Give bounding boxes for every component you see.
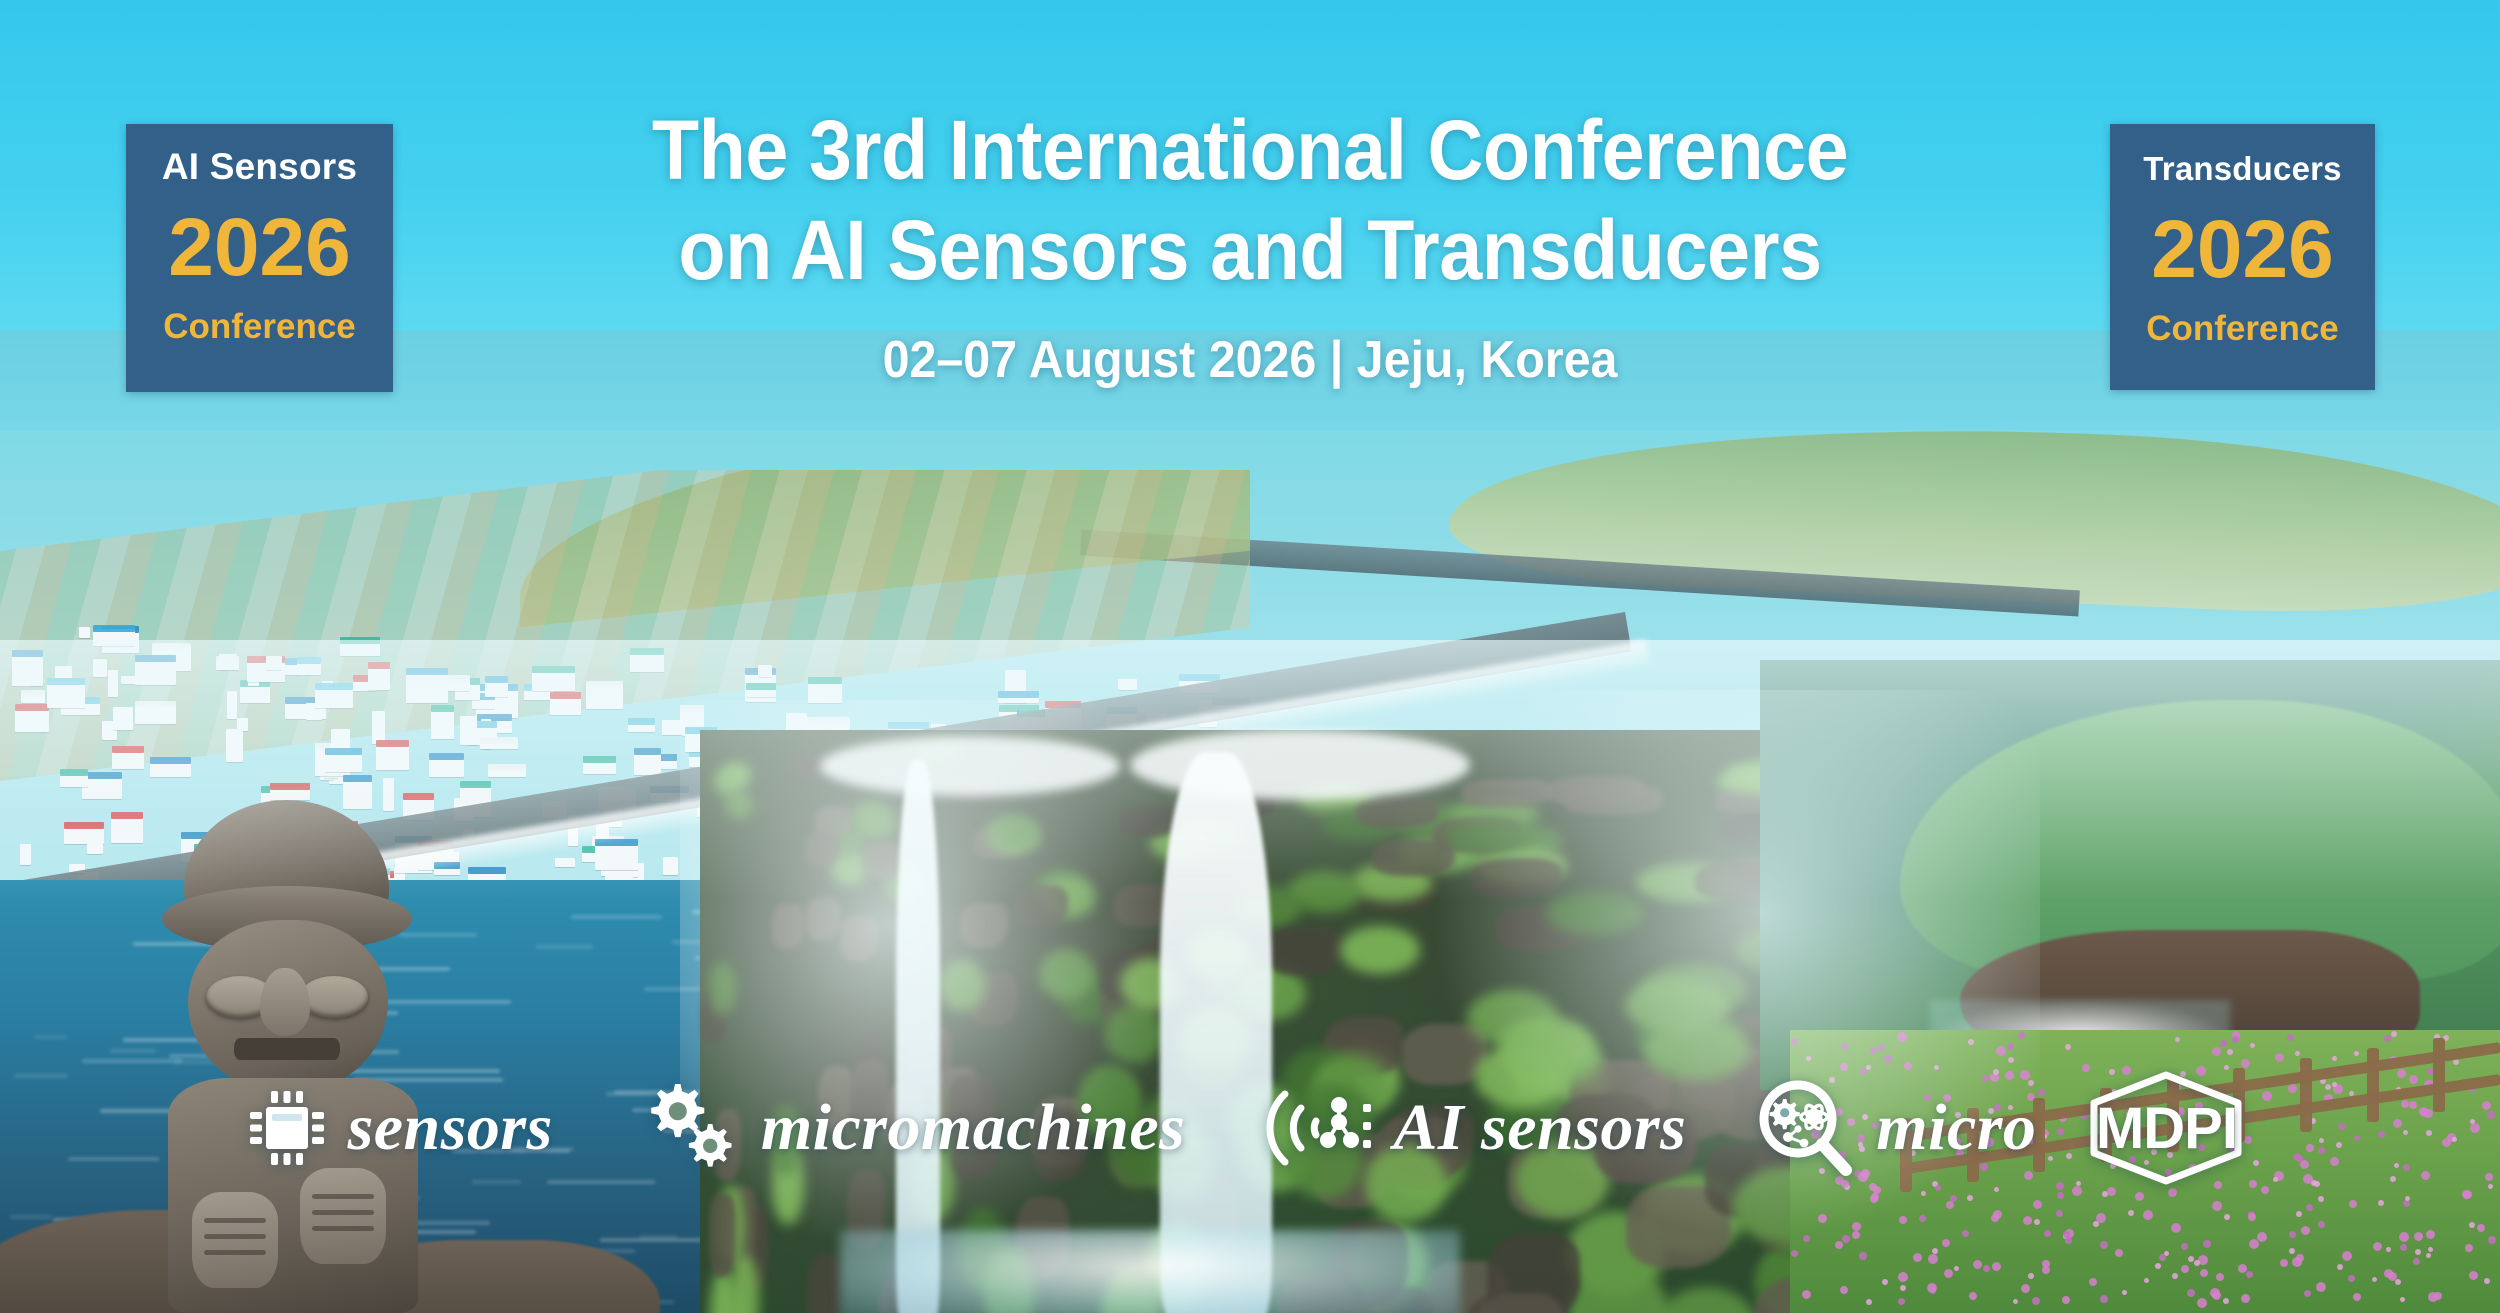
chip-icon	[244, 1085, 330, 1171]
statue-hand-left	[192, 1192, 278, 1288]
logo-micro-label: micro	[1876, 1090, 2036, 1166]
badge-left-kind: Conference	[126, 309, 393, 344]
waterfall-plunge-pool	[840, 1230, 1460, 1313]
badge-left-topic: AI Sensors	[126, 148, 393, 185]
logo-micromachines[interactable]: micromachines	[639, 1080, 1186, 1176]
logo-mdpi[interactable]: MDPI	[2076, 1069, 2256, 1187]
badge-right-kind: Conference	[2110, 311, 2375, 346]
statue-eye-right	[300, 976, 368, 1018]
waterfall-stream-right	[1160, 752, 1272, 1313]
logo-sensors-label: sensors	[348, 1090, 553, 1166]
badge-ai-sensors: AI Sensors 2026 Conference	[126, 124, 393, 392]
waterfall-crest-left	[820, 736, 1120, 796]
logo-sensors[interactable]: sensors	[244, 1085, 553, 1171]
badge-right-topic: Transducers	[2110, 152, 2375, 185]
badge-right-year: 2026	[2110, 209, 2375, 291]
statue-mouth	[234, 1038, 340, 1060]
conference-banner: AI Sensors 2026 Conference Transducers 2…	[0, 0, 2500, 1313]
logo-micromachines-label: micromachines	[761, 1090, 1186, 1166]
logo-mdpi-label: MDPI	[2076, 1069, 2256, 1187]
dol-hareubang-statue	[148, 800, 438, 1313]
logo-ai-sensors-label: AI sensors	[1393, 1090, 1686, 1166]
journal-logo-strip: sensors micromachines	[0, 1058, 2500, 1198]
badge-transducers: Transducers 2026 Conference	[2110, 124, 2375, 390]
signal-network-icon	[1259, 1078, 1375, 1178]
logo-micro[interactable]: micro	[1752, 1075, 2036, 1181]
statue-nose	[260, 968, 310, 1036]
magnifier-molecule-icon	[1752, 1075, 1858, 1181]
badge-left-year: 2026	[126, 207, 393, 289]
waterfall-cliff	[700, 730, 1850, 1313]
logo-ai-sensors[interactable]: AI sensors	[1259, 1078, 1686, 1178]
gears-icon	[639, 1080, 743, 1176]
